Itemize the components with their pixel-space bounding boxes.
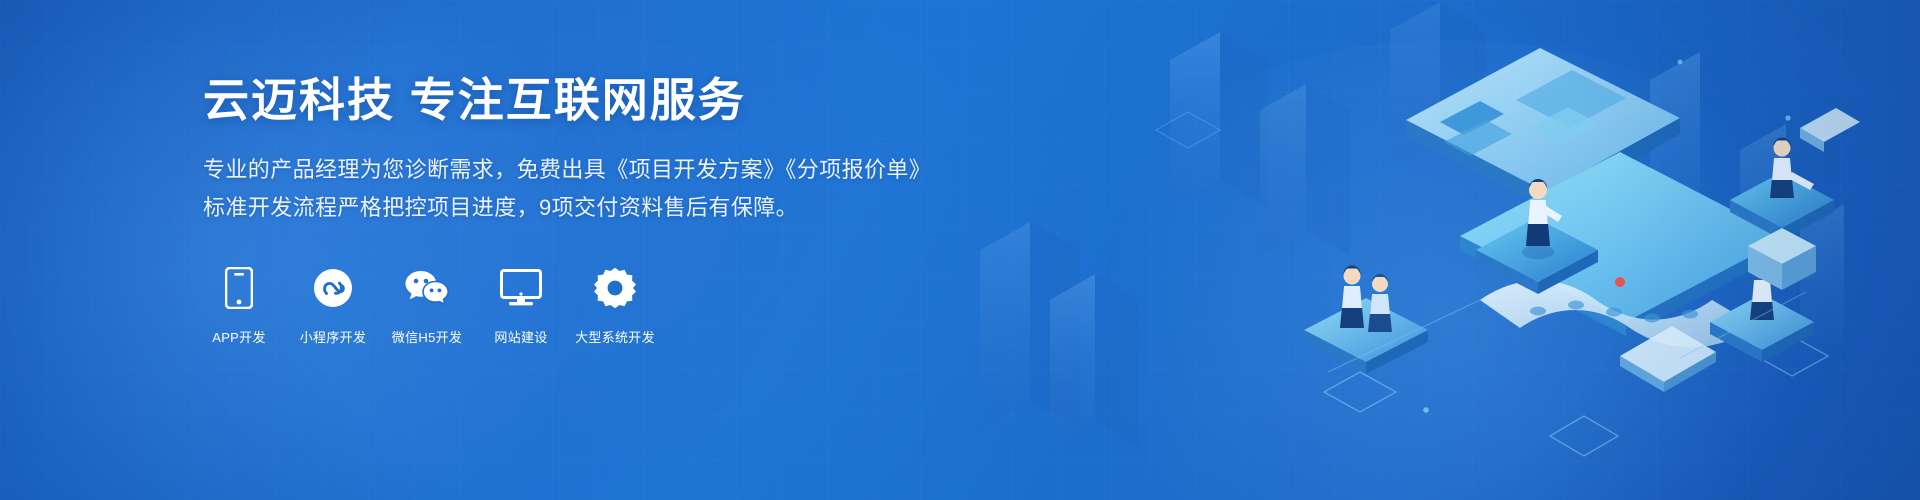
service-label-wechat: 微信H5开发	[392, 327, 462, 346]
hero-content: 云迈科技 专注互联网服务 专业的产品经理为您诊断需求，免费出具《项目开发方案》《…	[203, 72, 903, 346]
service-list: APP开发 小程序开发	[203, 265, 903, 346]
gear-icon	[592, 265, 638, 311]
service-label-website: 网站建设	[494, 327, 547, 346]
subtitle-line-2: 标准开发流程严格把控项目进度，9项交付资料售后有保障。	[203, 190, 903, 226]
mini-program-icon	[310, 265, 356, 311]
figure-right-lower	[1750, 260, 1774, 321]
service-item-mini-program[interactable]: 小程序开发	[297, 265, 369, 346]
monitor-icon	[498, 265, 544, 311]
figure-presenter	[1522, 179, 1562, 259]
service-label-system: 大型系统开发	[575, 327, 655, 346]
figure-laptop	[1770, 138, 1814, 199]
service-label-app: APP开发	[212, 327, 266, 346]
background-glow-right	[1040, 40, 1860, 500]
subtitle-block: 专业的产品经理为您诊断需求，免费出具《项目开发方案》《分项报价单》 标准开发流程…	[203, 152, 903, 225]
page-title: 云迈科技 专注互联网服务	[203, 72, 903, 130]
service-item-app[interactable]: APP开发	[203, 265, 275, 346]
figure-pair	[1340, 266, 1392, 333]
hero-illustration	[920, 0, 1920, 500]
service-item-wechat[interactable]: 微信H5开发	[391, 265, 463, 346]
service-item-website[interactable]: 网站建设	[485, 265, 557, 346]
hero-banner: 云迈科技 专注互联网服务 专业的产品经理为您诊断需求，免费出具《项目开发方案》《…	[0, 0, 1920, 500]
service-item-system[interactable]: 大型系统开发	[579, 265, 651, 346]
subtitle-line-1: 专业的产品经理为您诊断需求，免费出具《项目开发方案》《分项报价单》	[203, 152, 903, 188]
service-label-mini-program: 小程序开发	[300, 327, 367, 346]
wechat-icon	[404, 265, 450, 311]
mobile-phone-icon	[216, 265, 262, 311]
